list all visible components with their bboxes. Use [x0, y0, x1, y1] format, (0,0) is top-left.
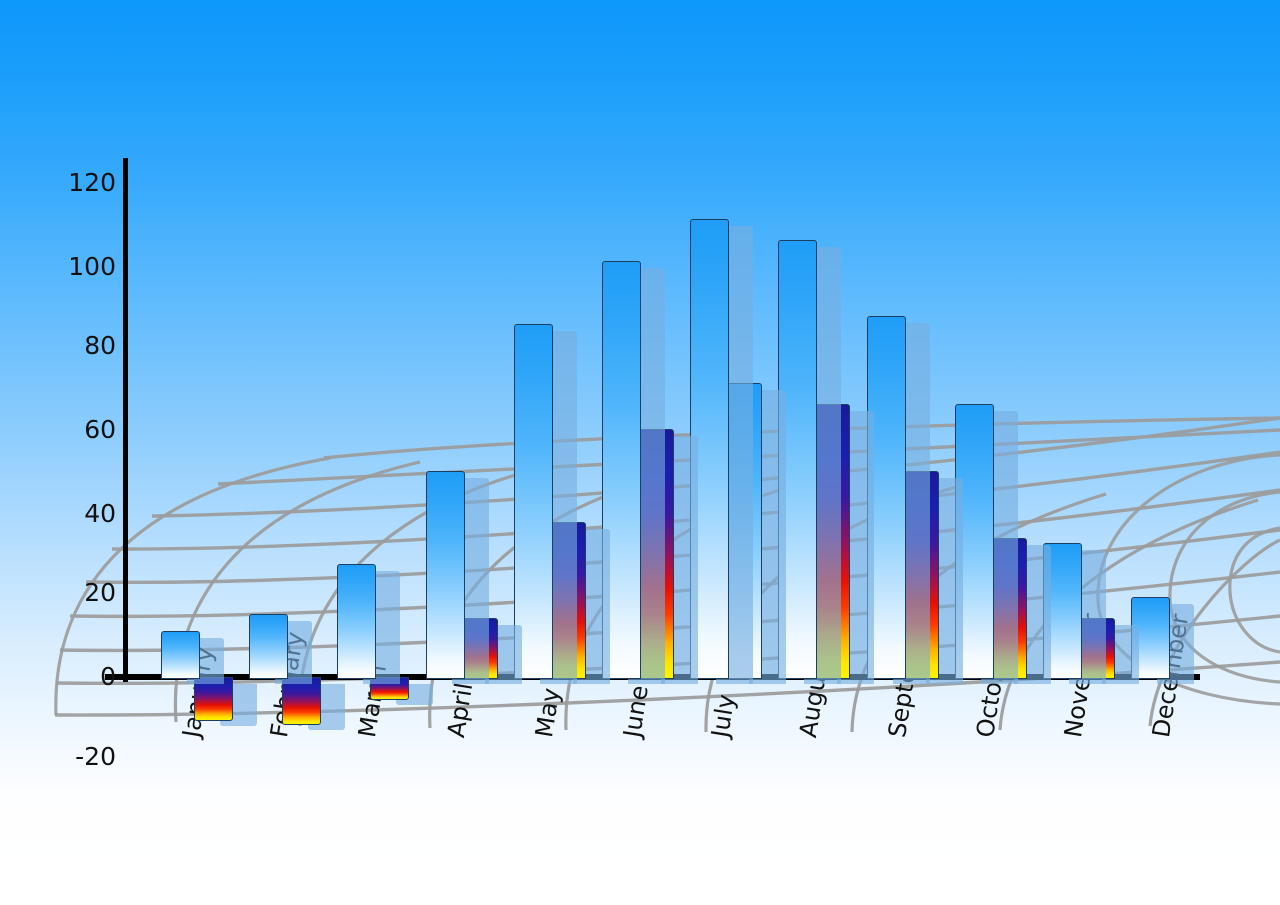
x-label-may: May [530, 686, 565, 739]
x-label-july: July [706, 692, 740, 739]
x-label-april: April [442, 681, 478, 740]
y-tick-label-40: 40 [50, 501, 116, 526]
y-tick-label-120: 120 [50, 170, 116, 195]
bar-may-series-1 [514, 324, 551, 677]
bar-january-series-1 [161, 631, 198, 677]
bar-face [161, 631, 200, 679]
y-tick-label-0: 0 [50, 664, 116, 689]
bar-march-series-1 [337, 564, 374, 677]
bar-face [249, 614, 288, 679]
y-tick-label-100: 100 [50, 254, 116, 279]
y-tick-label-minus-20: -20 [40, 744, 116, 769]
bar-chart-figure: 120 100 80 60 40 20 0 -20 JanuaryFebruar… [0, 0, 1280, 905]
bar-face [426, 471, 465, 679]
y-tick-label-20: 20 [50, 580, 116, 605]
x-label-june: June [618, 683, 654, 739]
bar-april-series-1 [426, 471, 463, 677]
y-tick-label-60: 60 [50, 417, 116, 442]
bar-face [337, 564, 376, 679]
y-axis-line [123, 158, 128, 682]
y-tick-label-80: 80 [50, 333, 116, 358]
bar-face [282, 677, 321, 725]
plot-area: 120 100 80 60 40 20 0 -20 JanuaryFebruar… [0, 0, 1280, 905]
bar-february-series-1 [249, 614, 286, 677]
